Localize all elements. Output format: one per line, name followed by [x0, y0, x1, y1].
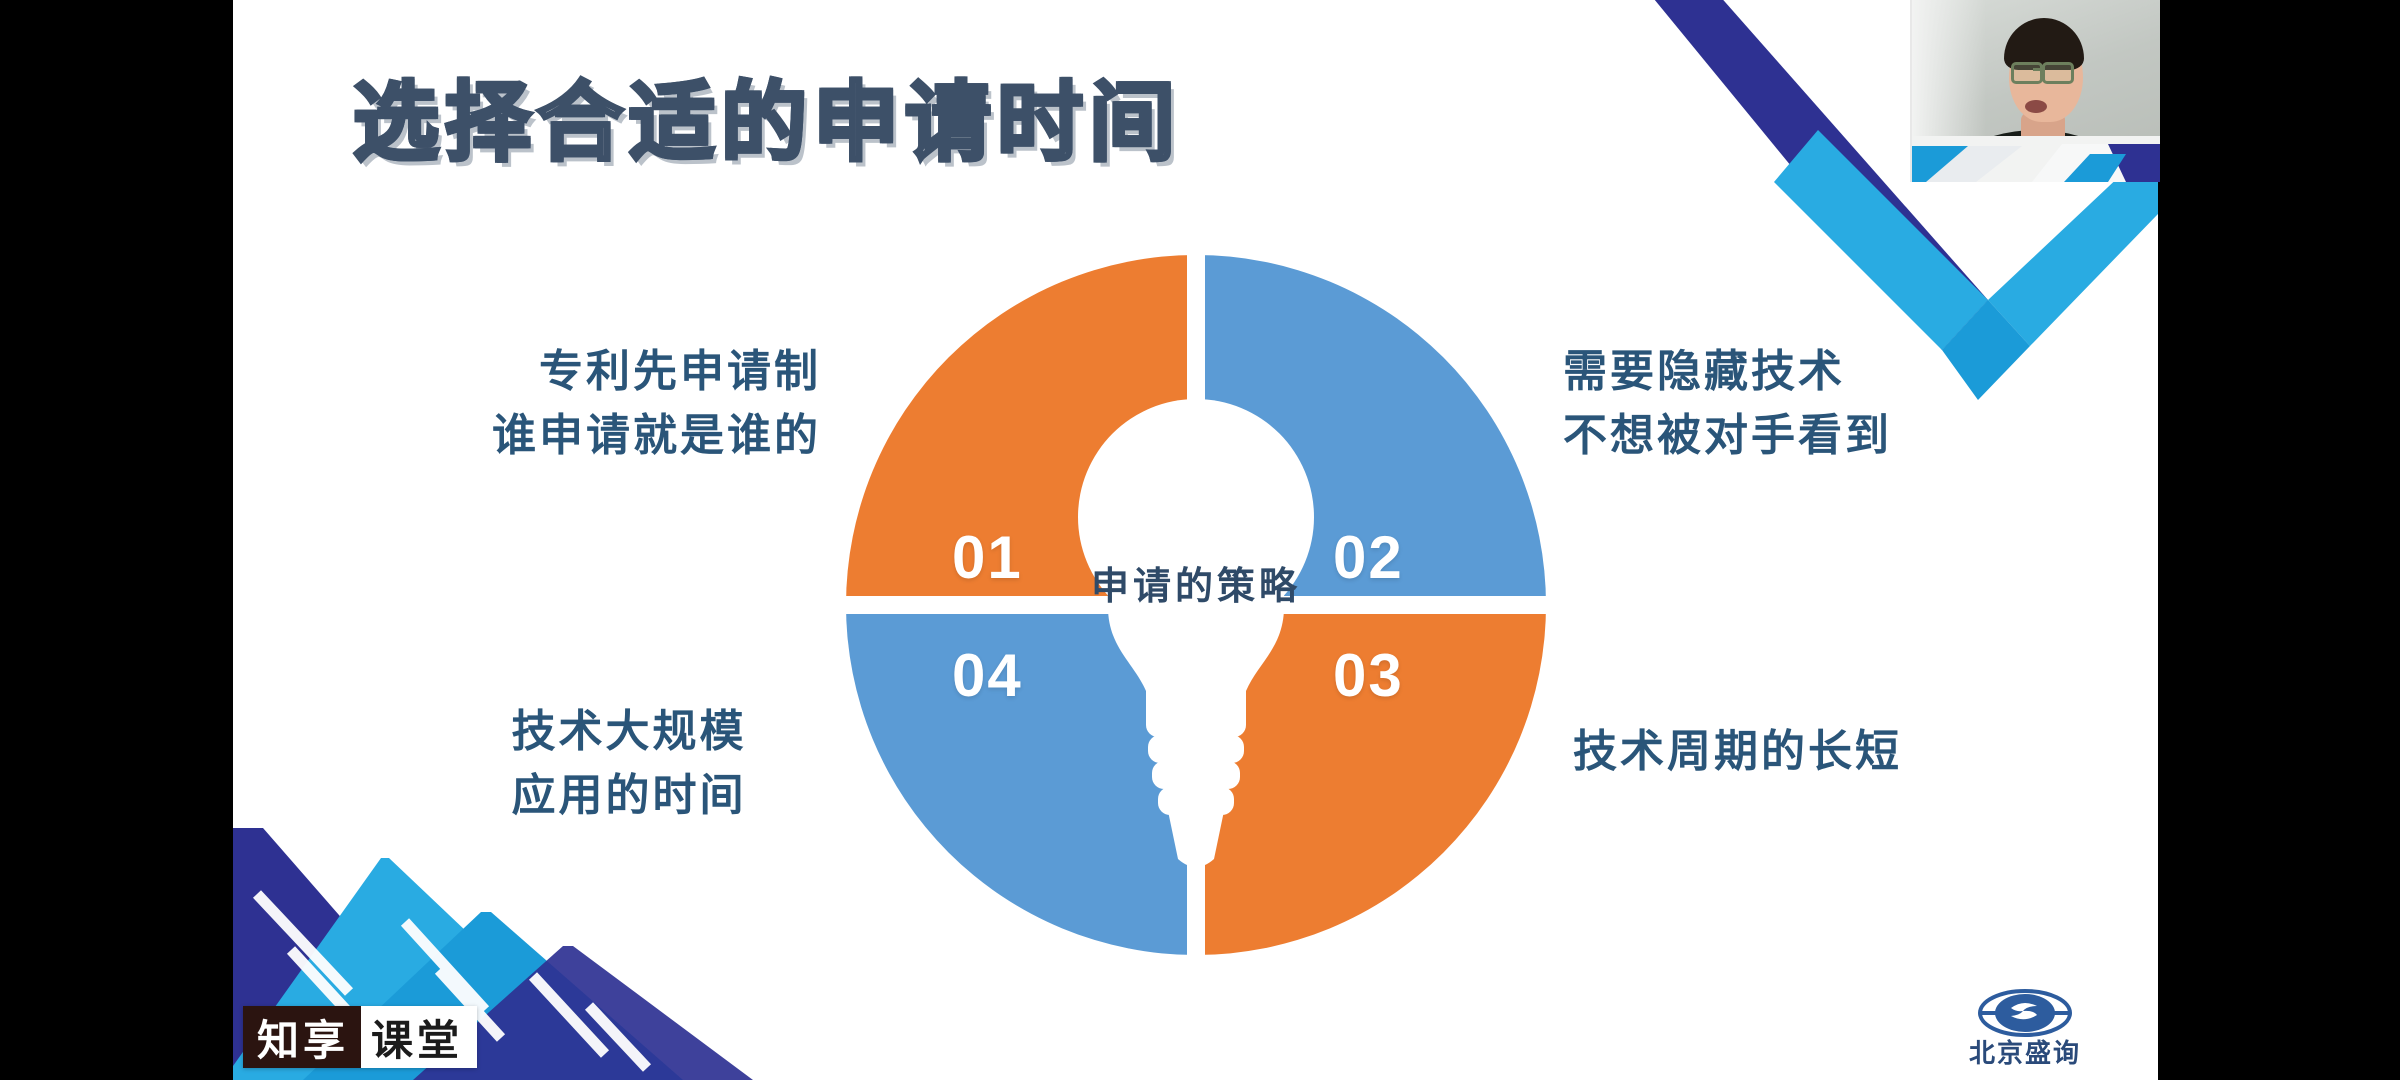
callout-04-line-1: 技术大规模 [429, 700, 829, 764]
video-bottom-slide-edge [1912, 136, 2160, 182]
presenter-video-overlay[interactable] [1910, 0, 2160, 182]
watermark-zhixiang-ketang: 知享 课堂 [243, 1006, 477, 1068]
callout-04: 技术大规模 应用的时间 [429, 700, 829, 828]
callout-01: 专利先申请制 谁申请就是谁的 [401, 340, 821, 468]
glasses-lens-left [2011, 62, 2043, 84]
brand-logo: 北京盛询 [1950, 988, 2100, 1066]
letterbox-right [2158, 0, 2400, 1080]
donut-diagram: 01 02 03 04 申请的策略 [846, 255, 1546, 955]
callout-04-line-2: 应用的时间 [429, 764, 829, 828]
center-label: 申请的策略 [846, 555, 1546, 610]
screen-root: 选择合适的申请时间 [0, 0, 2400, 1080]
callout-02-line-1: 需要隐藏技术 [1563, 340, 1892, 404]
glasses-lens-right [2042, 62, 2074, 84]
segment-number-04: 04 [952, 641, 1023, 710]
presentation-slide: 选择合适的申请时间 [233, 0, 2158, 1080]
segment-number-03: 03 [1333, 641, 1404, 710]
letterbox-left [0, 0, 233, 1080]
watermark-right-text: 课堂 [361, 1006, 477, 1068]
callout-01-line-1: 专利先申请制 [401, 340, 821, 404]
brand-name: 北京盛询 [1950, 1040, 2100, 1066]
page-title: 选择合适的申请时间 [353, 78, 1181, 168]
callout-02: 需要隐藏技术 不想被对手看到 [1563, 340, 1892, 468]
callout-03-line-1: 技术周期的长短 [1573, 720, 1902, 784]
callout-03: 技术周期的长短 [1573, 720, 1902, 784]
watermark-left-text: 知享 [243, 1006, 361, 1068]
eye-oval-logo-icon [1977, 988, 2073, 1038]
presenter-mouth [2025, 100, 2047, 113]
callout-01-line-2: 谁申请就是谁的 [401, 404, 821, 468]
callout-02-line-2: 不想被对手看到 [1563, 404, 1892, 468]
glasses-bridge [2033, 68, 2042, 71]
